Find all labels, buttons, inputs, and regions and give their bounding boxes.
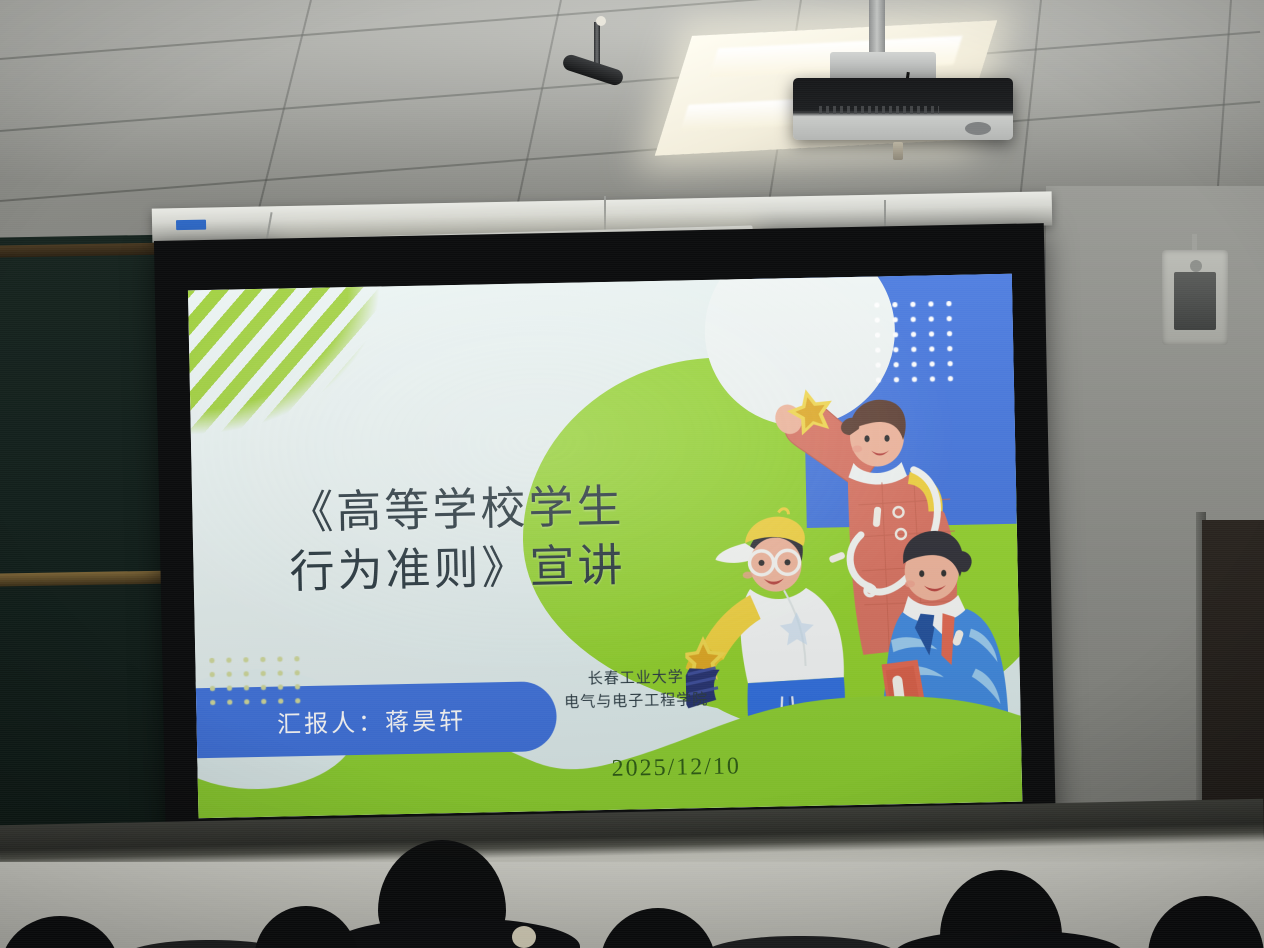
classroom-room: 《高等学校学生 行为准则》宣讲 长春工业大学 电气与电子工程学院 汇报人：蒋昊轩…	[0, 0, 1264, 948]
presenter-label-wrap: 汇报人：蒋昊轩	[196, 681, 547, 758]
organization-college: 电气与电子工程学院	[526, 688, 746, 716]
slide-title-line-1: 《高等学校学生	[246, 477, 667, 545]
hair-clip	[512, 926, 536, 948]
roller-label	[176, 220, 206, 231]
ceiling-grid-line	[0, 0, 1260, 60]
slide-date: 2025/12/10	[611, 753, 741, 783]
photo-scene: 《高等学校学生 行为准则》宣讲 长春工业大学 电气与电子工程学院 汇报人：蒋昊轩…	[0, 0, 1264, 948]
slide-title-line-2: 行为准则》宣讲	[247, 536, 668, 604]
projection-screen: 《高等学校学生 行为准则》宣讲 长春工业大学 电气与电子工程学院 汇报人：蒋昊轩…	[154, 223, 1056, 856]
striped-corner-decoration	[188, 286, 391, 450]
ceiling-grid-line	[0, 31, 1260, 132]
presentation-slide: 《高等学校学生 行为准则》宣讲 长春工业大学 电气与电子工程学院 汇报人：蒋昊轩…	[188, 274, 1022, 818]
projector-mount-arm	[869, 0, 885, 60]
presenter-label: 汇报人：蒋昊轩	[277, 700, 467, 739]
organization-block: 长春工业大学 电气与电子工程学院	[526, 665, 747, 716]
sprinkler-head-icon	[893, 142, 903, 160]
ceiling-sensor-tip	[596, 16, 606, 26]
slide-title: 《高等学校学生 行为准则》宣讲	[246, 477, 668, 604]
projector-lens-icon	[965, 122, 991, 135]
projector-device	[793, 78, 1013, 140]
wall-speaker	[1162, 250, 1228, 345]
